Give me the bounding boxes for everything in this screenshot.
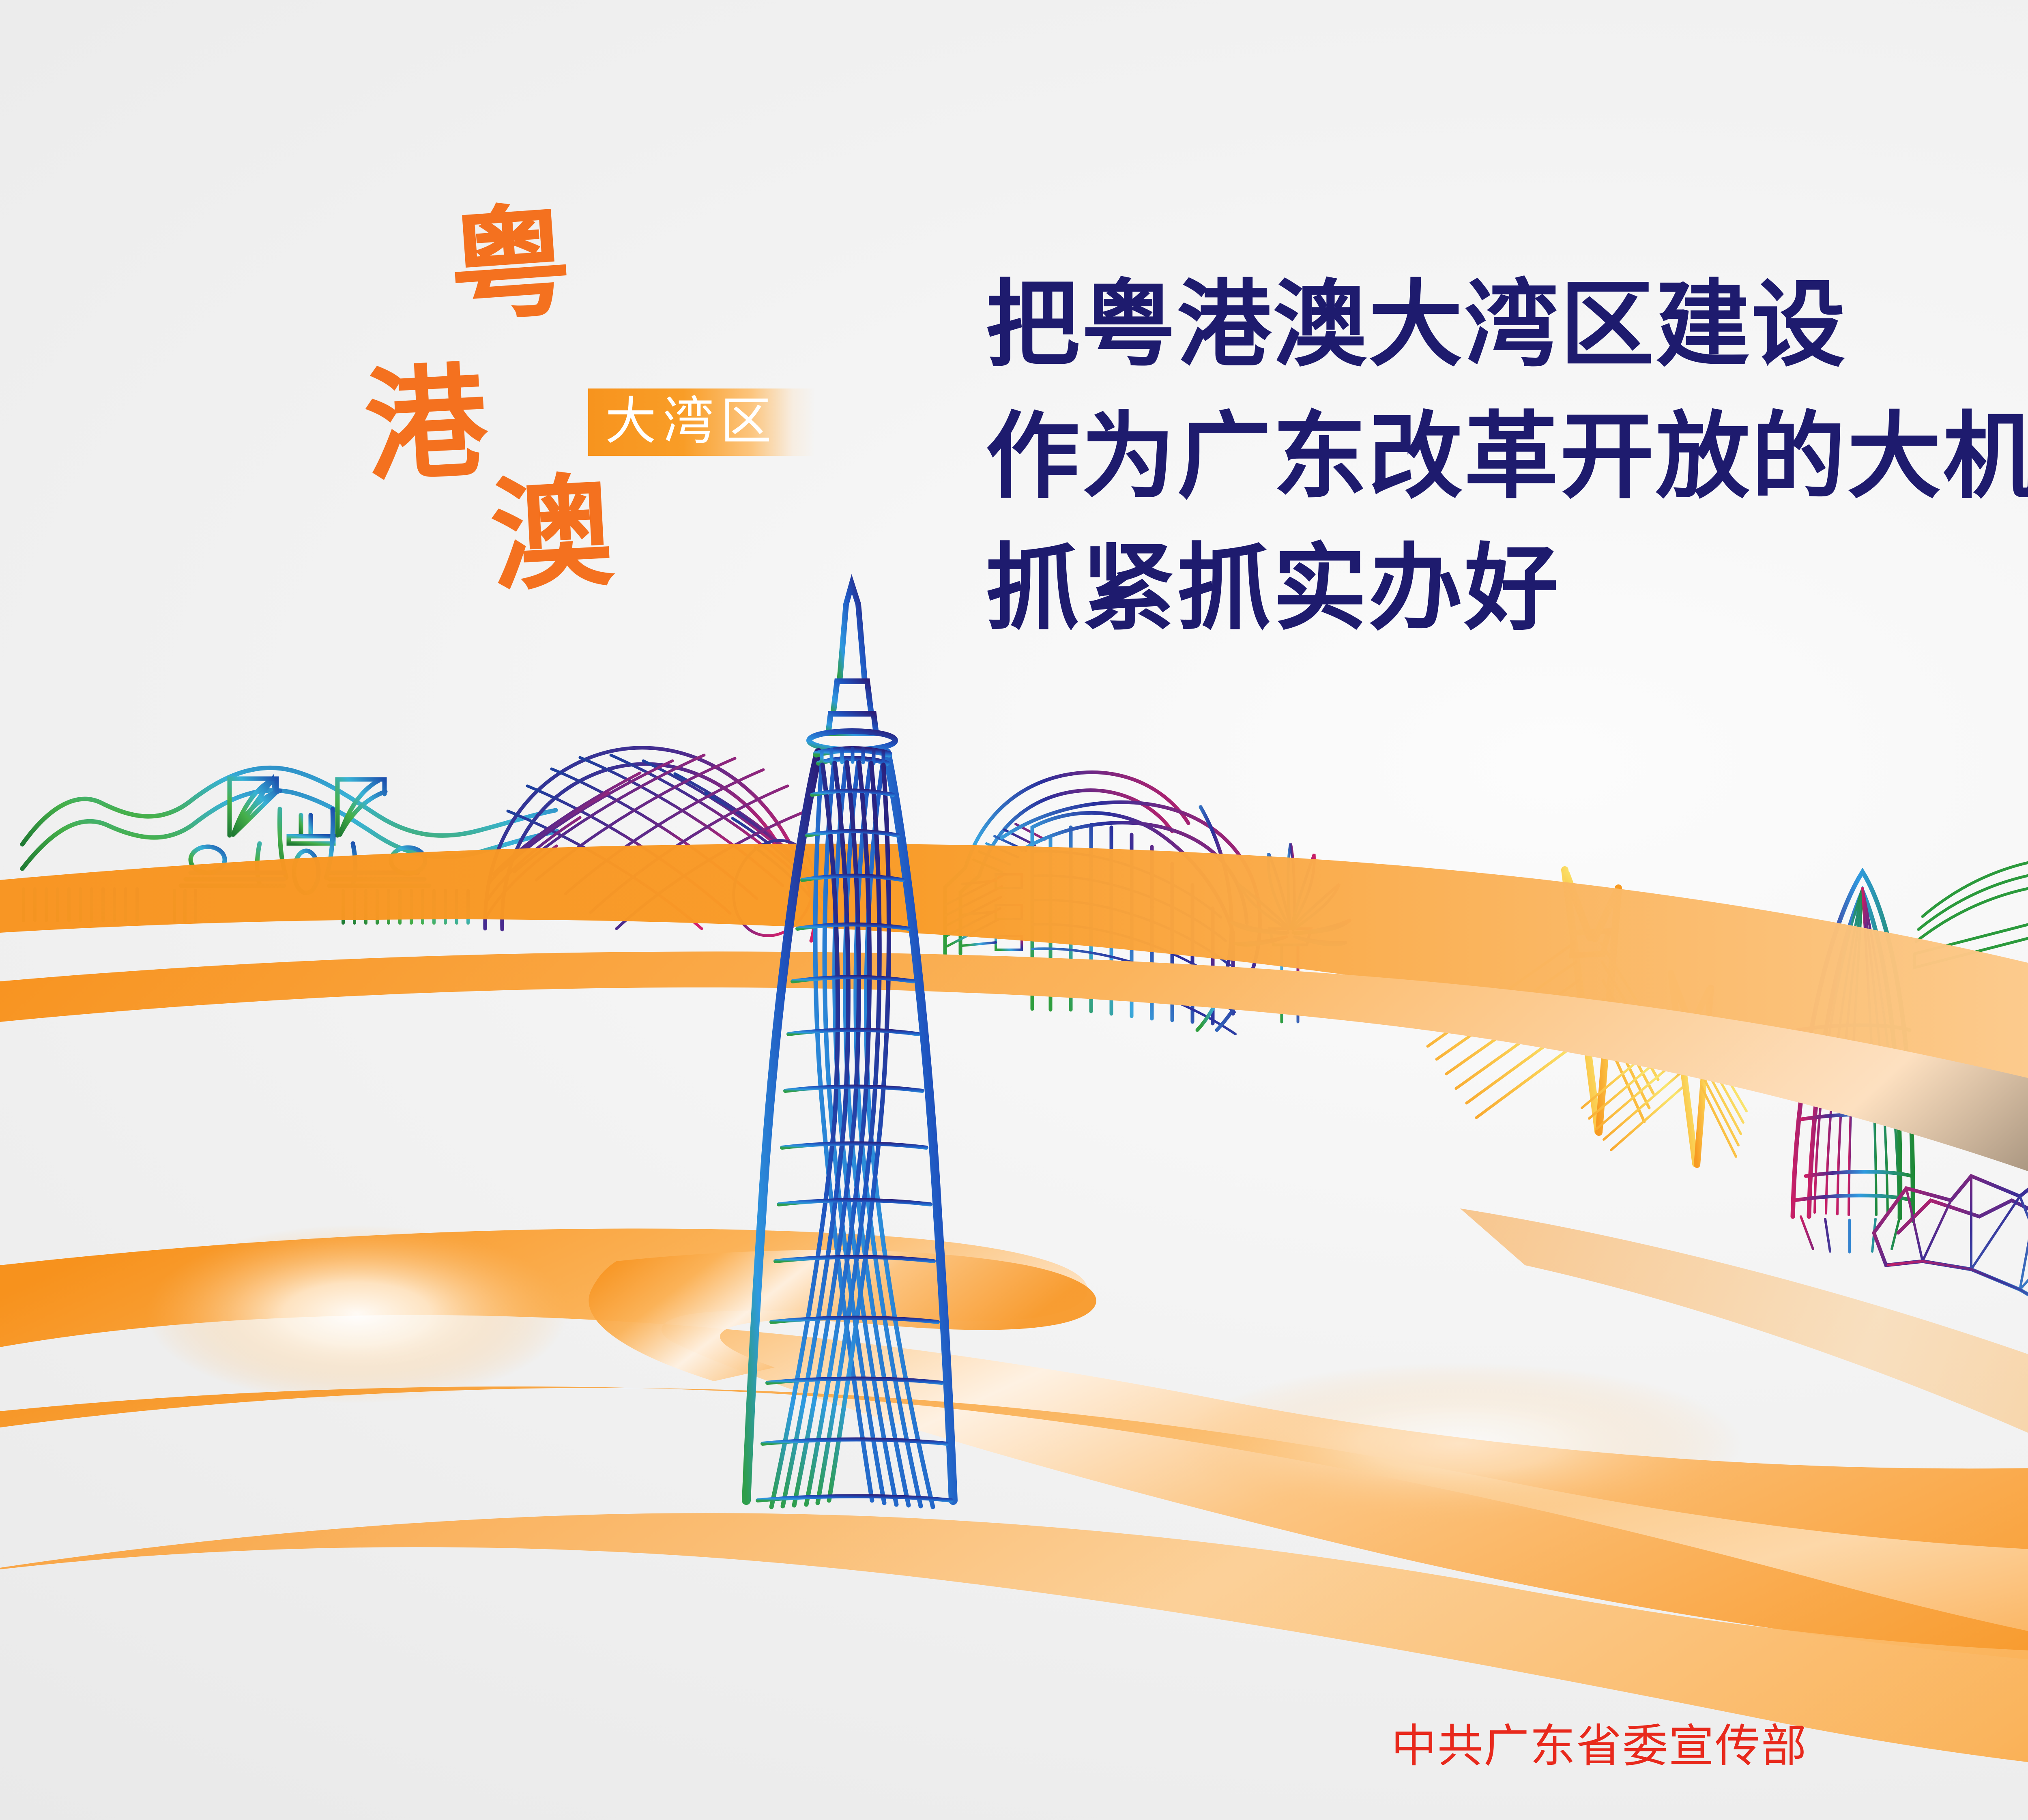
ribbon-highlight-center	[1176, 1363, 1744, 1525]
footer-organization: 中共广东省委宣传部	[1391, 1709, 1807, 1775]
headline-line-2: 作为广东改革开放的大机遇大文章	[986, 391, 2028, 523]
logo-char-gang: 港	[362, 362, 490, 489]
badge-label: 大湾区	[588, 397, 778, 448]
logo-char-ao: 澳	[488, 471, 615, 599]
headline-line-1: 把粤港澳大湾区建设	[986, 260, 2028, 391]
poster-canvas: 粤 港 澳 大湾区 把粤港澳大湾区建设 作为广东改革开放的大机遇大文章 抓紧抓实…	[0, 0, 2028, 1820]
greater-bay-area-badge: 大湾区	[588, 388, 815, 456]
headline-block: 把粤港澳大湾区建设 作为广东改革开放的大机遇大文章 抓紧抓实办好	[986, 260, 2028, 655]
headline-line-3: 抓紧抓实办好	[986, 523, 2028, 655]
logo-char-yue: 粤	[445, 201, 575, 331]
greater-bay-area-logo: 粤 港 澳 大湾区	[357, 195, 892, 633]
ribbon-highlight-left	[146, 1225, 568, 1403]
